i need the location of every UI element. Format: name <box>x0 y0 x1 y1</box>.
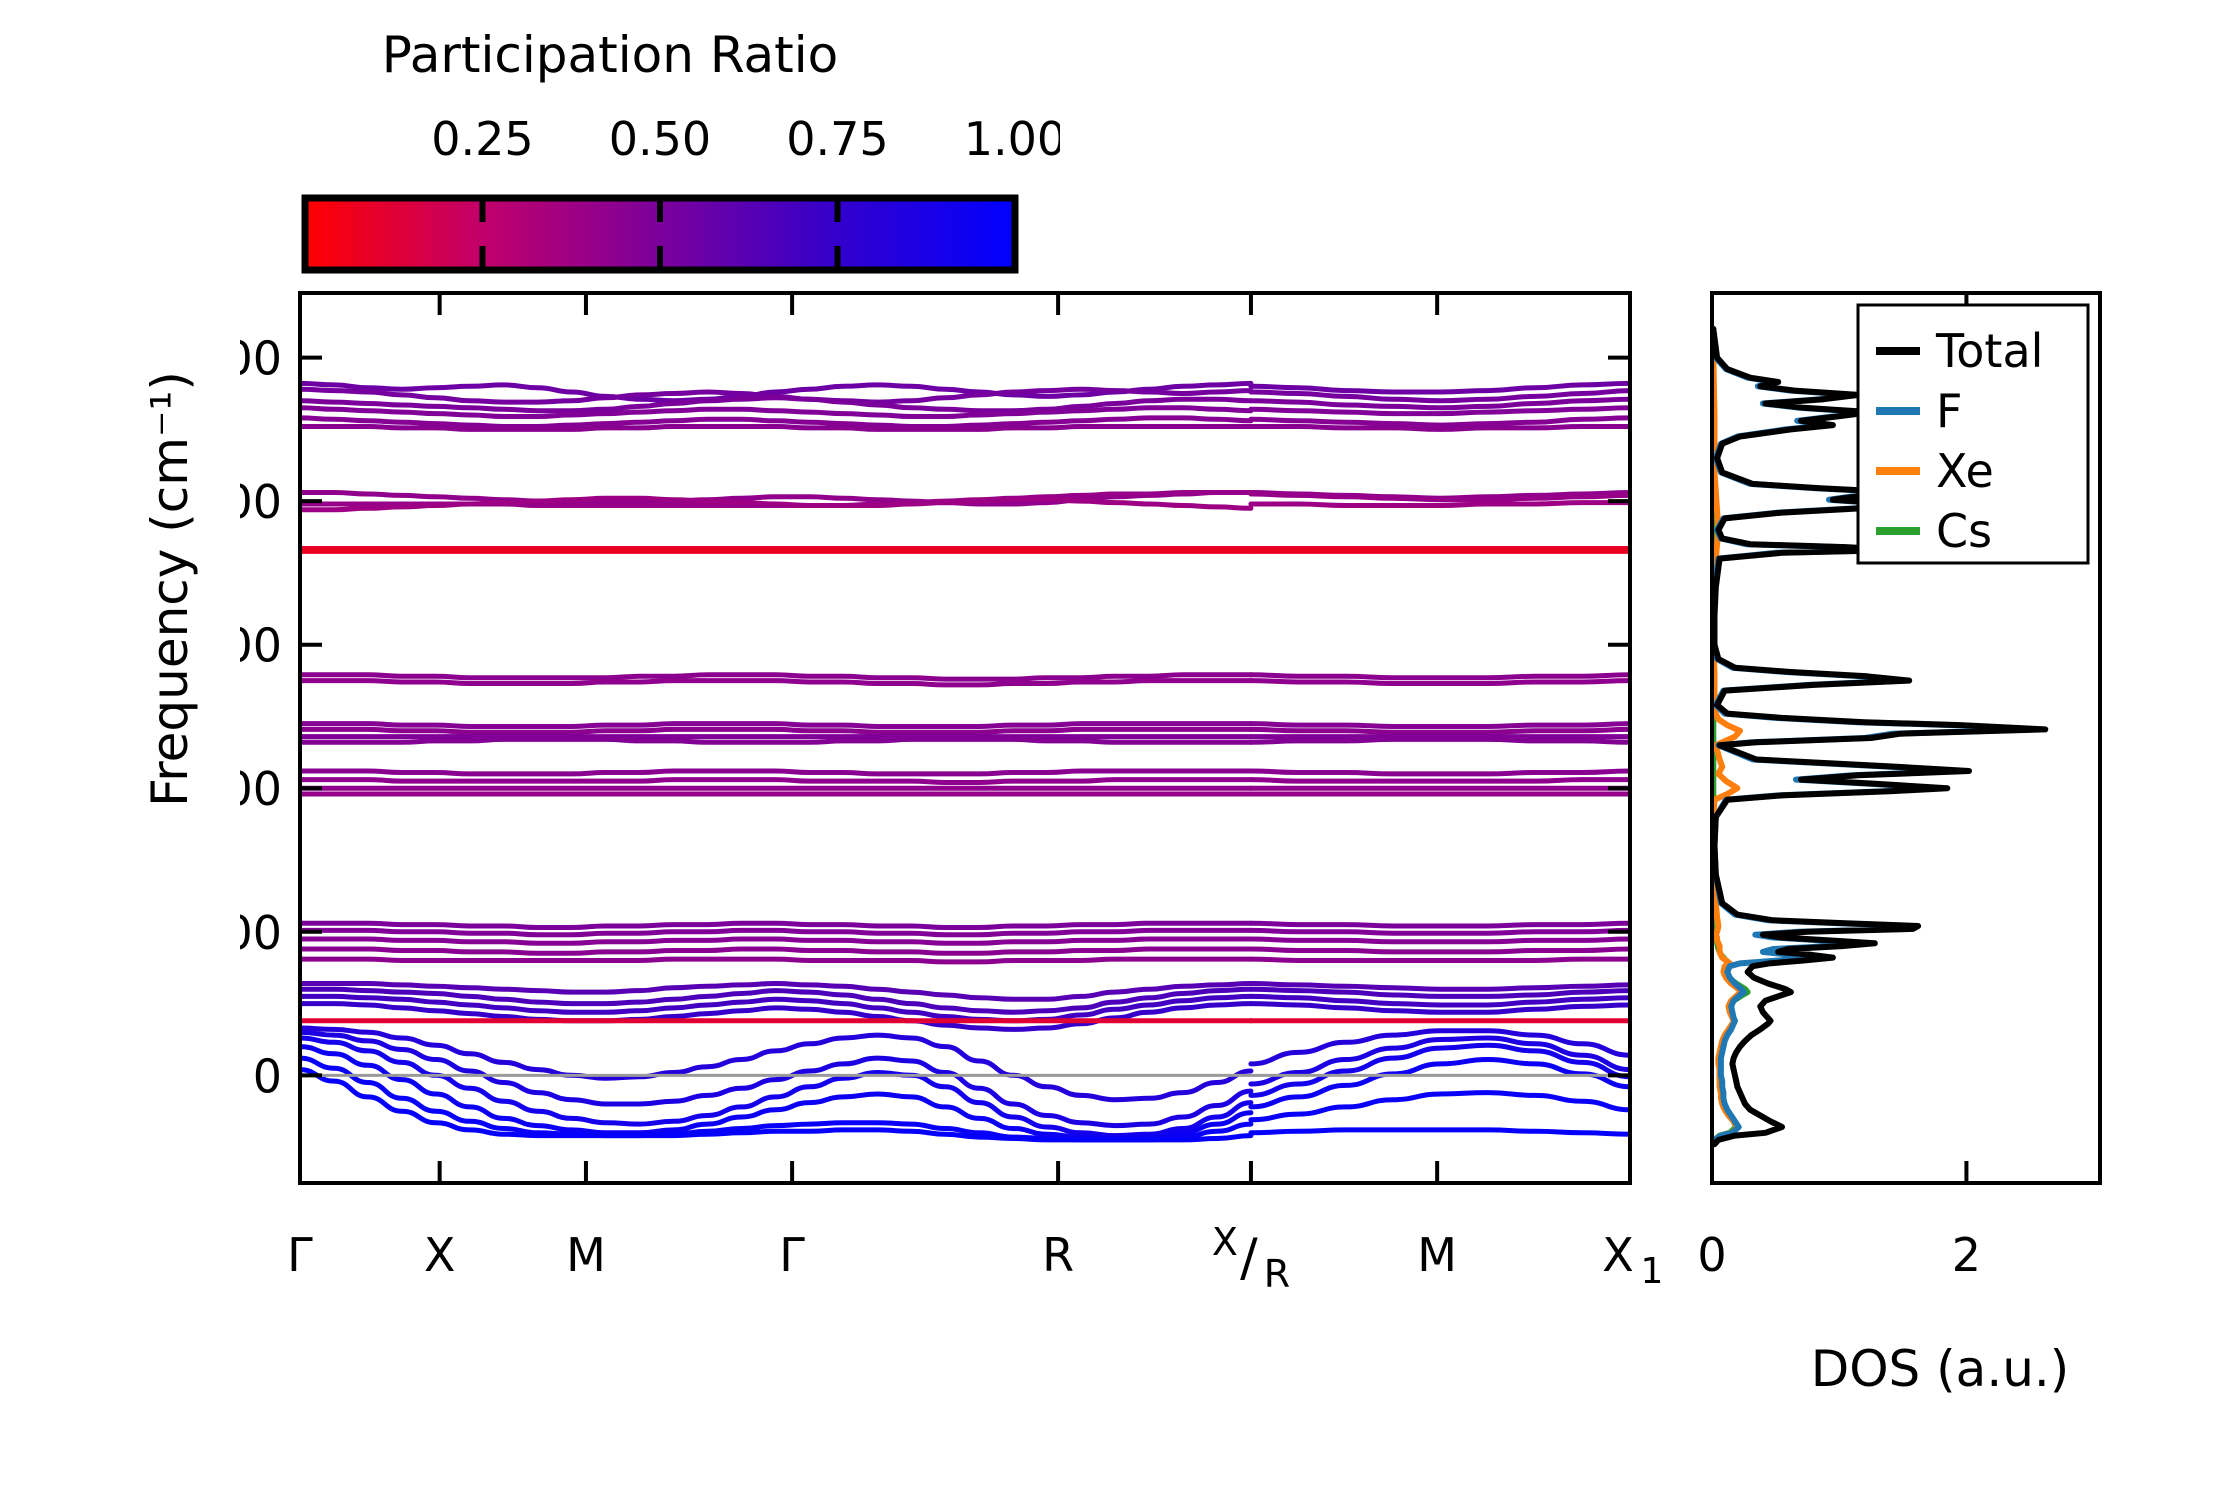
dos-x-tick-labels: 02 <box>1700 1228 1981 1282</box>
band-xtick-label-4: R <box>1042 1228 1074 1282</box>
band-line <box>1251 771 1630 774</box>
band-xtick-label-1: X <box>424 1228 456 1282</box>
band-line <box>1251 923 1630 926</box>
frequency-axis-label: Frequency (cm⁻¹) <box>141 371 199 807</box>
colorbar-tick-label-3: 1.00 <box>964 112 1060 166</box>
legend-label-xe[interactable]: Xe <box>1936 444 1994 498</box>
band-line <box>1251 739 1630 742</box>
band-line <box>1251 930 1630 933</box>
band-xtick-label-6: M <box>1417 1228 1457 1282</box>
band-structure-panel: 5004003002001000 ΓXMΓRX/RMX1 <box>240 275 1700 1485</box>
band-line <box>300 498 1251 510</box>
band-line <box>300 739 1251 742</box>
band-line <box>300 949 1251 953</box>
band-line <box>1251 780 1630 782</box>
band-line <box>1251 949 1630 952</box>
dos-xtick-label-1: 2 <box>1952 1228 1981 1282</box>
colorbar-title: Participation Ratio <box>382 26 838 84</box>
band-xtick-label-2: M <box>566 1228 606 1282</box>
band-line <box>1251 939 1630 942</box>
band-xtick-label-7: X1 <box>1602 1228 1663 1292</box>
dos-legend[interactable]: TotalFXeCs <box>1858 305 2088 563</box>
band-xtick-label-0: Γ <box>287 1228 313 1282</box>
svg-text:R: R <box>1264 1252 1290 1296</box>
band-line <box>300 959 1251 962</box>
band-line <box>300 930 1251 934</box>
colorbar-tick-label-0: 0.25 <box>431 112 533 166</box>
figure-root: Participation Ratio 0.250.500.751.00 500… <box>0 0 2222 1455</box>
svg-text:1: 1 <box>1641 1251 1664 1292</box>
band-curves <box>300 383 1630 1140</box>
band-ytick-label-2: 300 <box>240 619 282 673</box>
band-line <box>300 427 1251 430</box>
band-line <box>300 939 1251 943</box>
band-line <box>1251 418 1630 425</box>
dos-xtick-label-0: 0 <box>1700 1228 1727 1282</box>
band-xtick-label-3: Γ <box>779 1228 805 1282</box>
band-line <box>300 681 1251 685</box>
band-line <box>1251 675 1630 678</box>
band-line <box>1251 959 1630 960</box>
band-line <box>1251 427 1630 430</box>
svg-text:X: X <box>1212 1220 1238 1264</box>
band-line <box>1251 729 1630 732</box>
band-line <box>300 408 1251 417</box>
participation-ratio-colorbar: Participation Ratio 0.250.500.751.00 <box>160 10 1060 300</box>
band-line <box>300 1028 1251 1100</box>
colorbar-tick-label-1: 0.50 <box>609 112 711 166</box>
colorbar-tick-label-2: 0.75 <box>786 112 888 166</box>
band-line <box>1251 1130 1630 1134</box>
legend-label-total[interactable]: Total <box>1935 324 2043 378</box>
band-line <box>300 923 1251 927</box>
band-line <box>300 729 1251 732</box>
band-line <box>1251 681 1630 684</box>
frequency-axis-label-wrap: Frequency (cm⁻¹) <box>141 309 199 869</box>
band-ytick-label-0: 500 <box>240 332 282 386</box>
band-ytick-label-4: 100 <box>240 906 282 960</box>
band-line <box>300 780 1251 783</box>
band-x-tick-labels: ΓXMΓRX/RMX1 <box>287 1220 1663 1296</box>
band-line <box>300 771 1251 774</box>
legend-label-cs[interactable]: Cs <box>1936 504 1992 558</box>
dos-axis-label-wrap: DOS (a.u.) <box>1700 1340 2180 1398</box>
band-ytick-label-3: 200 <box>240 762 282 816</box>
band-xtick-label-5: X/R <box>1212 1220 1290 1296</box>
svg-text:X: X <box>1602 1228 1634 1282</box>
band-line <box>1251 724 1630 727</box>
band-ytick-label-5: 0 <box>253 1049 282 1103</box>
colorbar-tick-labels: 0.250.500.751.00 <box>431 112 1060 166</box>
band-line <box>300 724 1251 727</box>
band-ytick-label-1: 400 <box>240 475 282 529</box>
dos-panel: 02 TotalFXeCs <box>1700 275 2180 1485</box>
dos-axis-label: DOS (a.u.) <box>1811 1340 2070 1398</box>
legend-label-f[interactable]: F <box>1936 384 1962 438</box>
band-line <box>1251 503 1630 506</box>
svg-text:/: / <box>1240 1228 1258 1288</box>
band-line <box>1251 383 1630 392</box>
